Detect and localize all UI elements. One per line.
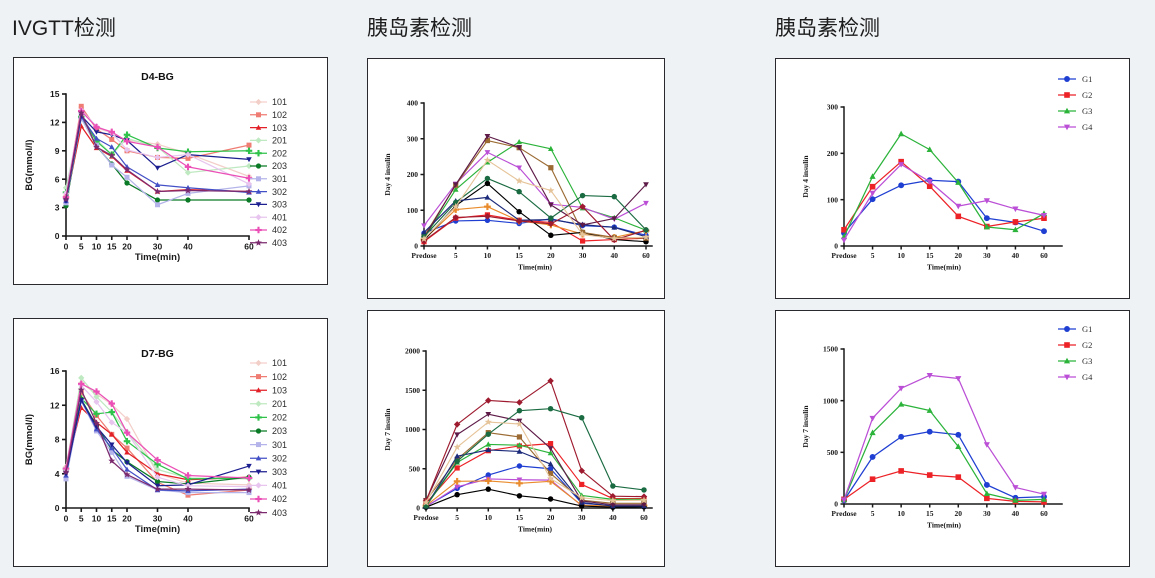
svg-text:4: 4: [55, 469, 60, 479]
svg-text:401: 401: [272, 212, 287, 222]
svg-text:300: 300: [827, 103, 839, 112]
svg-text:Time(min): Time(min): [927, 521, 962, 530]
svg-text:5: 5: [454, 251, 458, 260]
svg-text:1500: 1500: [405, 386, 420, 395]
section-title-insulin-groups: 胰岛素检测: [775, 12, 880, 42]
svg-text:20: 20: [122, 242, 132, 252]
svg-text:1500: 1500: [823, 345, 838, 354]
chart-card-day7-insulin-groups: 050010001500Predose5101520304060Time(min…: [775, 310, 1130, 567]
svg-text:5: 5: [871, 509, 875, 518]
svg-text:202: 202: [272, 413, 287, 423]
svg-text:3: 3: [55, 203, 60, 213]
svg-text:500: 500: [409, 464, 421, 473]
svg-text:10: 10: [897, 509, 905, 518]
svg-text:20: 20: [122, 514, 132, 524]
svg-text:100: 100: [407, 206, 419, 215]
svg-text:103: 103: [272, 123, 287, 133]
svg-text:100: 100: [827, 195, 839, 204]
svg-text:40: 40: [609, 513, 617, 522]
svg-text:Time(min): Time(min): [135, 524, 180, 535]
svg-text:402: 402: [272, 494, 287, 504]
svg-text:301: 301: [272, 174, 287, 184]
chart-card-day7-insulin-subjects: 0500100015002000Predose5101520304060Time…: [367, 310, 665, 567]
svg-text:Predose: Predose: [831, 509, 857, 518]
svg-text:Predose: Predose: [413, 513, 439, 522]
svg-text:30: 30: [153, 242, 163, 252]
svg-text:0: 0: [834, 242, 838, 251]
svg-text:D7-BG: D7-BG: [141, 348, 174, 360]
legend-item: G1: [1058, 324, 1092, 334]
legend-item: 302: [250, 187, 287, 197]
svg-text:Time(min): Time(min): [927, 263, 962, 272]
legend-item: G4: [1058, 122, 1093, 132]
svg-text:500: 500: [827, 448, 839, 457]
svg-text:5: 5: [79, 242, 84, 252]
legend-item: 101: [250, 358, 287, 368]
svg-text:0: 0: [414, 242, 418, 251]
svg-text:Predose: Predose: [831, 251, 857, 260]
svg-text:15: 15: [926, 251, 934, 260]
svg-text:BG(mmol/l): BG(mmol/l): [24, 139, 35, 190]
svg-text:Day 7 insulin: Day 7 insulin: [801, 405, 810, 448]
svg-text:15: 15: [516, 513, 524, 522]
svg-text:G3: G3: [1082, 106, 1092, 116]
legend-item: 303: [250, 467, 287, 477]
svg-text:2000: 2000: [405, 347, 420, 356]
svg-text:0: 0: [64, 514, 69, 524]
svg-text:300: 300: [407, 134, 419, 143]
svg-text:30: 30: [153, 514, 163, 524]
svg-text:5: 5: [79, 514, 84, 524]
svg-text:BG(mmol/l): BG(mmol/l): [24, 414, 35, 465]
chart-day4-insulin-groups: 0100200300Predose5101520304060Time(min)D…: [776, 59, 1129, 298]
svg-text:303: 303: [272, 467, 287, 477]
svg-text:30: 30: [983, 509, 991, 518]
svg-text:40: 40: [183, 242, 193, 252]
legend-item: 101: [250, 97, 287, 107]
svg-text:403: 403: [272, 238, 287, 248]
svg-text:9: 9: [55, 146, 60, 156]
svg-text:G1: G1: [1082, 324, 1092, 334]
svg-text:G4: G4: [1082, 372, 1093, 382]
svg-text:302: 302: [272, 453, 287, 463]
section-title-ivgtt: IVGTT检测: [12, 12, 116, 42]
svg-text:20: 20: [955, 509, 963, 518]
svg-text:0: 0: [416, 504, 420, 513]
svg-text:60: 60: [1040, 509, 1048, 518]
svg-text:10: 10: [484, 251, 492, 260]
legend-item: 203: [250, 426, 287, 436]
legend-item: G2: [1058, 90, 1092, 100]
legend-item: 401: [250, 481, 287, 491]
chart-day4-insulin-subjects: 0100200300400Predose5101520304060Time(mi…: [368, 59, 664, 298]
legend-item: 402: [250, 225, 287, 235]
svg-text:Day 4 insulin: Day 4 insulin: [383, 153, 392, 196]
legend-item: G3: [1058, 356, 1092, 366]
chart-card-day4-insulin-groups: 0100200300Predose5101520304060Time(min)D…: [775, 58, 1130, 299]
svg-text:201: 201: [272, 136, 287, 146]
svg-text:15: 15: [107, 242, 117, 252]
svg-text:10: 10: [485, 513, 493, 522]
legend-item: 403: [250, 238, 287, 248]
svg-text:201: 201: [272, 399, 287, 409]
svg-text:G2: G2: [1082, 90, 1092, 100]
svg-text:20: 20: [955, 251, 963, 260]
legend-item: 301: [250, 174, 287, 184]
svg-text:Time(min): Time(min): [518, 263, 553, 272]
svg-text:10: 10: [92, 514, 102, 524]
svg-text:Day 4 insulin: Day 4 insulin: [801, 155, 810, 198]
svg-text:Time(min): Time(min): [135, 252, 180, 263]
legend-item: 302: [250, 453, 287, 463]
svg-text:0: 0: [64, 242, 69, 252]
svg-text:101: 101: [272, 97, 287, 107]
legend-item: 301: [250, 440, 287, 450]
svg-text:40: 40: [611, 251, 619, 260]
svg-text:102: 102: [272, 372, 287, 382]
svg-text:101: 101: [272, 358, 287, 368]
svg-text:G2: G2: [1082, 340, 1092, 350]
svg-text:102: 102: [272, 110, 287, 120]
chart-d7-bg: 048121605101520304060Time(min)BG(mmol/l)…: [14, 319, 327, 566]
svg-text:40: 40: [1012, 509, 1020, 518]
svg-text:G3: G3: [1082, 356, 1092, 366]
svg-text:D4-BG: D4-BG: [141, 71, 174, 83]
svg-text:0: 0: [55, 503, 60, 513]
svg-text:8: 8: [55, 435, 60, 445]
svg-text:30: 30: [578, 513, 586, 522]
svg-text:5: 5: [871, 251, 875, 260]
legend-item: G2: [1058, 340, 1092, 350]
svg-text:30: 30: [983, 251, 991, 260]
svg-text:15: 15: [926, 509, 934, 518]
legend-item: 102: [250, 110, 287, 120]
svg-text:0: 0: [834, 500, 838, 509]
svg-text:202: 202: [272, 148, 287, 158]
svg-text:0: 0: [55, 231, 60, 241]
svg-text:200: 200: [827, 149, 839, 158]
svg-text:15: 15: [107, 514, 117, 524]
legend-item: 202: [250, 148, 287, 158]
legend-item: 201: [250, 399, 287, 409]
svg-text:G4: G4: [1082, 122, 1093, 132]
chart-day7-insulin-groups: 050010001500Predose5101520304060Time(min…: [776, 311, 1129, 566]
legend-item: 303: [250, 200, 287, 210]
svg-text:10: 10: [897, 251, 905, 260]
svg-text:203: 203: [272, 426, 287, 436]
legend-item: 401: [250, 212, 287, 222]
svg-text:20: 20: [547, 251, 555, 260]
svg-text:400: 400: [407, 99, 419, 108]
svg-text:20: 20: [547, 513, 555, 522]
legend-item: 103: [250, 123, 287, 133]
dashboard-page: IVGTT检测 胰岛素检测 胰岛素检测 03691215051015203040…: [0, 0, 1155, 578]
svg-text:402: 402: [272, 225, 287, 235]
svg-text:60: 60: [642, 251, 650, 260]
svg-text:103: 103: [272, 385, 287, 395]
chart-card-d4-bg: 0369121505101520304060Time(min)BG(mmol/l…: [13, 57, 328, 285]
legend-item: G4: [1058, 372, 1093, 382]
svg-text:1000: 1000: [405, 425, 420, 434]
legend-item: G3: [1058, 106, 1092, 116]
svg-text:200: 200: [407, 170, 419, 179]
svg-text:203: 203: [272, 161, 287, 171]
svg-text:10: 10: [92, 242, 102, 252]
svg-text:G1: G1: [1082, 74, 1092, 84]
svg-text:5: 5: [455, 513, 459, 522]
svg-text:60: 60: [1040, 251, 1048, 260]
legend-item: 103: [250, 385, 287, 395]
legend-item: 403: [250, 508, 287, 518]
svg-text:Day 7 insulin: Day 7 insulin: [383, 408, 392, 451]
legend-item: 203: [250, 161, 287, 171]
svg-text:Time(min): Time(min): [518, 525, 553, 534]
legend-item: 201: [250, 136, 287, 146]
legend-item: 102: [250, 372, 287, 382]
svg-text:403: 403: [272, 508, 287, 518]
svg-text:1000: 1000: [823, 396, 838, 405]
svg-text:301: 301: [272, 440, 287, 450]
legend-item: G1: [1058, 74, 1092, 84]
svg-text:303: 303: [272, 200, 287, 210]
chart-day7-insulin-subjects: 0500100015002000Predose5101520304060Time…: [368, 311, 664, 566]
svg-text:40: 40: [1012, 251, 1020, 260]
svg-text:15: 15: [50, 89, 60, 99]
svg-text:15: 15: [515, 251, 523, 260]
chart-d4-bg: 0369121505101520304060Time(min)BG(mmol/l…: [14, 58, 327, 284]
svg-text:302: 302: [272, 187, 287, 197]
svg-text:60: 60: [640, 513, 648, 522]
svg-text:12: 12: [50, 117, 60, 127]
svg-text:60: 60: [244, 514, 254, 524]
section-title-insulin-subjects: 胰岛素检测: [367, 12, 472, 42]
legend-item: 202: [250, 413, 287, 423]
chart-card-d7-bg: 048121605101520304060Time(min)BG(mmol/l)…: [13, 318, 328, 567]
svg-text:Predose: Predose: [411, 251, 437, 260]
svg-text:40: 40: [183, 514, 193, 524]
chart-card-day4-insulin-subjects: 0100200300400Predose5101520304060Time(mi…: [367, 58, 665, 299]
svg-text:401: 401: [272, 481, 287, 491]
svg-text:6: 6: [55, 174, 60, 184]
legend-item: 402: [250, 494, 287, 504]
svg-text:12: 12: [50, 400, 60, 410]
svg-text:16: 16: [50, 366, 60, 376]
svg-text:30: 30: [579, 251, 587, 260]
